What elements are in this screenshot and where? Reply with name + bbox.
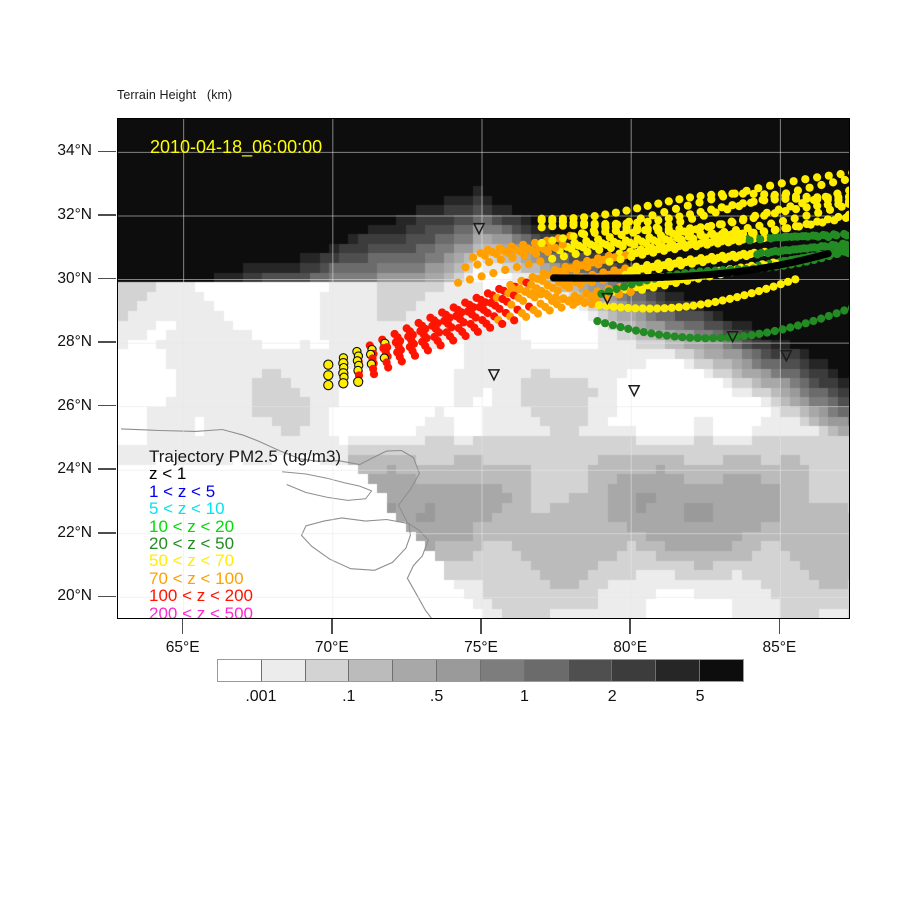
y-axis-tick <box>98 532 116 534</box>
x-axis-label: 70°E <box>292 639 372 657</box>
trajectory-legend-title: Trajectory PM2.5 (ug/m3) <box>149 448 341 465</box>
x-axis-tick <box>629 619 631 634</box>
map-plot-area[interactable]: 2010-04-18_06:00:00 Trajectory PM2.5 (ug… <box>117 118 850 619</box>
colorbar-gradient <box>217 659 744 682</box>
y-axis-label: 28°N <box>22 333 92 351</box>
colorbar-cell <box>700 660 743 681</box>
y-axis-tick <box>98 151 116 153</box>
trajectory-legend-entry-0: z < 1 <box>149 465 341 482</box>
y-axis-tick <box>98 468 116 470</box>
trajectory-legend-entry-4: 20 < z < 50 <box>149 535 341 552</box>
y-axis-tick <box>98 278 116 280</box>
trajectory-legend-entry-7: 100 < z < 200 <box>149 587 341 604</box>
colorbar-cell <box>525 660 569 681</box>
colorbar-cell <box>306 660 350 681</box>
trajectory-legend-entry-8: 200 < z < 500 <box>149 605 341 619</box>
colorbar-tick-label: .001 <box>231 688 291 706</box>
y-axis-label: 26°N <box>22 397 92 415</box>
colorbar-cell <box>262 660 306 681</box>
x-axis-label: 65°E <box>143 639 223 657</box>
x-axis-label: 85°E <box>739 639 819 657</box>
figure-title: Terrain Height (km) <box>117 88 232 102</box>
colorbar-cell <box>569 660 613 681</box>
station-marker <box>629 386 639 396</box>
colorbar-cell <box>349 660 393 681</box>
station-marker <box>728 332 738 342</box>
y-axis-tick <box>98 341 116 343</box>
figure-root: Terrain Height (km) 2010-04-18_06:00:00 … <box>0 0 900 900</box>
x-axis-label: 75°E <box>441 639 521 657</box>
y-axis-tick <box>98 405 116 407</box>
y-axis-tick <box>98 596 116 598</box>
colorbar-cell <box>612 660 656 681</box>
y-axis-label: 30°N <box>22 270 92 288</box>
trajectory-legend: Trajectory PM2.5 (ug/m3)z < 11 < z < 55 … <box>149 448 341 619</box>
colorbar-cell <box>393 660 437 681</box>
y-axis-label: 20°N <box>22 587 92 605</box>
colorbar-tick-label: .5 <box>407 688 467 706</box>
colorbar-tick-label: 5 <box>670 688 730 706</box>
colorbar-tick-label: 1 <box>494 688 554 706</box>
colorbar[interactable] <box>217 659 744 682</box>
x-axis-tick <box>480 619 482 634</box>
x-axis-tick <box>779 619 781 634</box>
station-marker <box>602 294 612 304</box>
y-axis-label: 34°N <box>22 142 92 160</box>
colorbar-tick-label: .1 <box>319 688 379 706</box>
colorbar-cell <box>481 660 525 681</box>
station-marker <box>781 351 791 361</box>
timestamp-label: 2010-04-18_06:00:00 <box>150 137 322 158</box>
x-axis-tick <box>182 619 184 634</box>
trajectory-legend-entry-2: 5 < z < 10 <box>149 500 341 517</box>
station-marker <box>489 370 499 380</box>
trajectory-legend-entry-3: 10 < z < 20 <box>149 518 341 535</box>
colorbar-cell <box>437 660 481 681</box>
trajectory-legend-entry-6: 70 < z < 100 <box>149 570 341 587</box>
x-axis-tick <box>331 619 333 634</box>
colorbar-cell <box>656 660 700 681</box>
colorbar-tick-label: 2 <box>582 688 642 706</box>
x-axis-label: 80°E <box>590 639 670 657</box>
y-axis-label: 24°N <box>22 460 92 478</box>
y-axis-tick <box>98 214 116 216</box>
y-axis-label: 32°N <box>22 206 92 224</box>
station-marker <box>474 224 484 234</box>
trajectory-legend-entry-1: 1 < z < 5 <box>149 483 341 500</box>
y-axis-label: 22°N <box>22 524 92 542</box>
trajectory-legend-entry-5: 50 < z < 70 <box>149 552 341 569</box>
colorbar-cell <box>218 660 262 681</box>
